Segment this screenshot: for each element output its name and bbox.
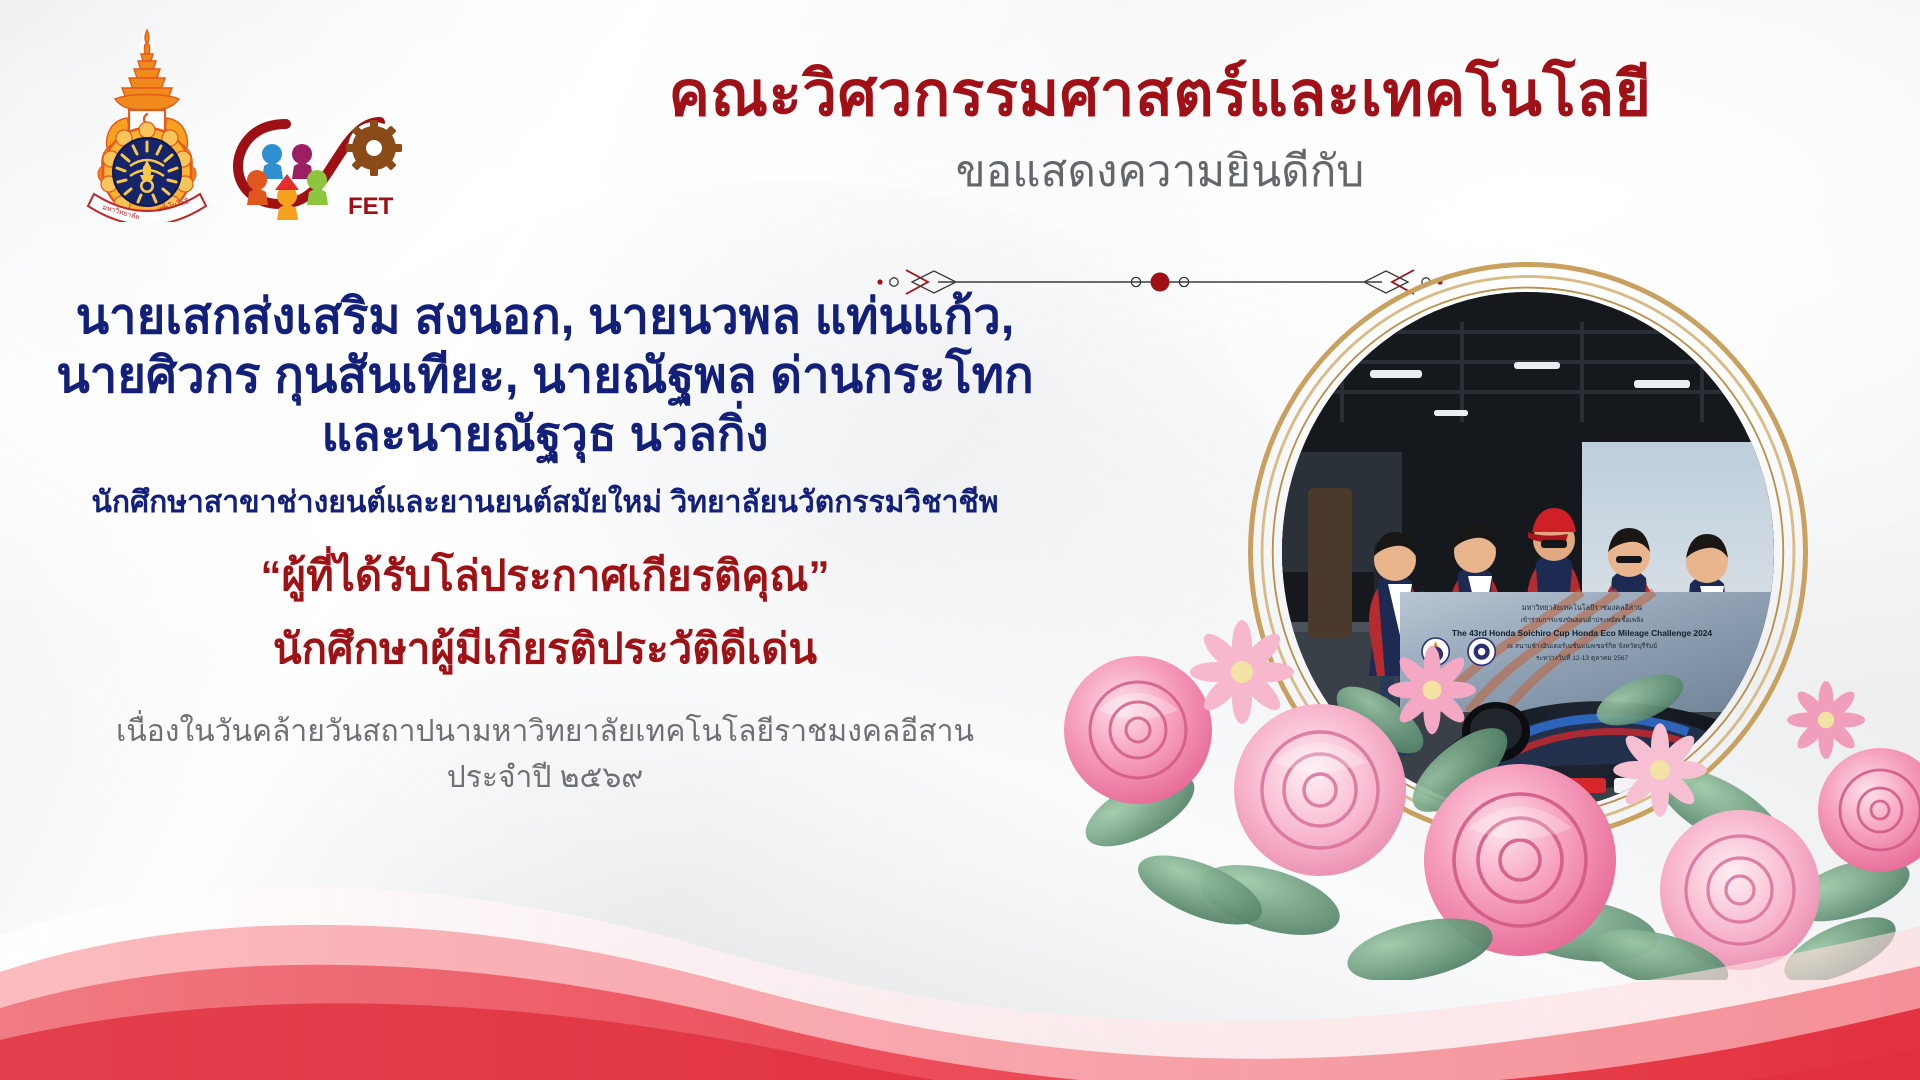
page-title: คณะวิศวกรรมศาสตร์และเทคโนโลยี [460,62,1860,128]
banner-caption-line-2: เข้าร่วมการแข่งขันฮอนด้าประหยัดเชื้อเพลิ… [1520,615,1643,624]
fet-logo: FET [228,104,410,222]
page-subtitle: ขอแสดงความยินดีกับ [460,148,1860,196]
banner-caption-line-3: The 43rd Honda Soichiro Cup Honda Eco Mi… [1452,628,1712,638]
honoree-text-block: นายเสกส่งเสริม สงนอก, นายนวพล แท่นแก้ว, … [40,288,1050,799]
honoree-names-line-1: นายเสกส่งเสริม สงนอก, นายนวพล แท่นแก้ว, [40,288,1050,347]
banner-caption-line-5: ระหว่างวันที่ 12-13 ตุลาคม 2567 [1536,653,1629,662]
rmuti-emblem-logo: มหาวิทยาลัย เทคโนโลยี [72,26,222,222]
occasion-line-2: ประจำปี ๒๕๖๙ [40,756,1050,800]
fet-logo-text: FET [348,193,394,220]
team-photo-medallion: มหาวิทยาลัยเทคโนโลยีราชมงคลอีสาน เข้าร่ว… [1248,262,1808,842]
occasion-line-1: เนื่องในวันคล้ายวันสถาปนามหาวิทยาลัยเทคโ… [40,710,1050,754]
honoree-program: นักศึกษาสาขาช่างยนต์และยานยนต์สมัยใหม่ ว… [40,484,1050,522]
svg-text:IRC: IRC [1528,781,1545,792]
award-quote: “ผู้ที่ได้รับโล่ประกาศเกียรติคุณ” [40,551,1050,601]
banner-caption-line-1: มหาวิทยาลัยเทคโนโลยีราชมงคลอีสาน [1522,603,1642,612]
honoree-names-line-3: และนายณัฐวุธ นวลกิ่ง [40,406,1050,462]
banner-caption-line-4: ณ สนามช้างอินเตอร์เนชั่นแนลเซอร์กิต จังห… [1507,641,1657,650]
certificate-banner: มหาวิทยาลัย เทคโนโลยี [0,0,1920,1080]
honoree-names-line-2: นายศิวกร กุนสันเทียะ, นายณัฐพล ด่านกระโท… [40,347,1050,406]
team-photo: มหาวิทยาลัยเทคโนโลยีราชมงคลอีสาน เข้าร่ว… [1282,292,1774,812]
award-title: นักศึกษาผู้มีเกียรติประวัติดีเด่น [40,624,1050,674]
